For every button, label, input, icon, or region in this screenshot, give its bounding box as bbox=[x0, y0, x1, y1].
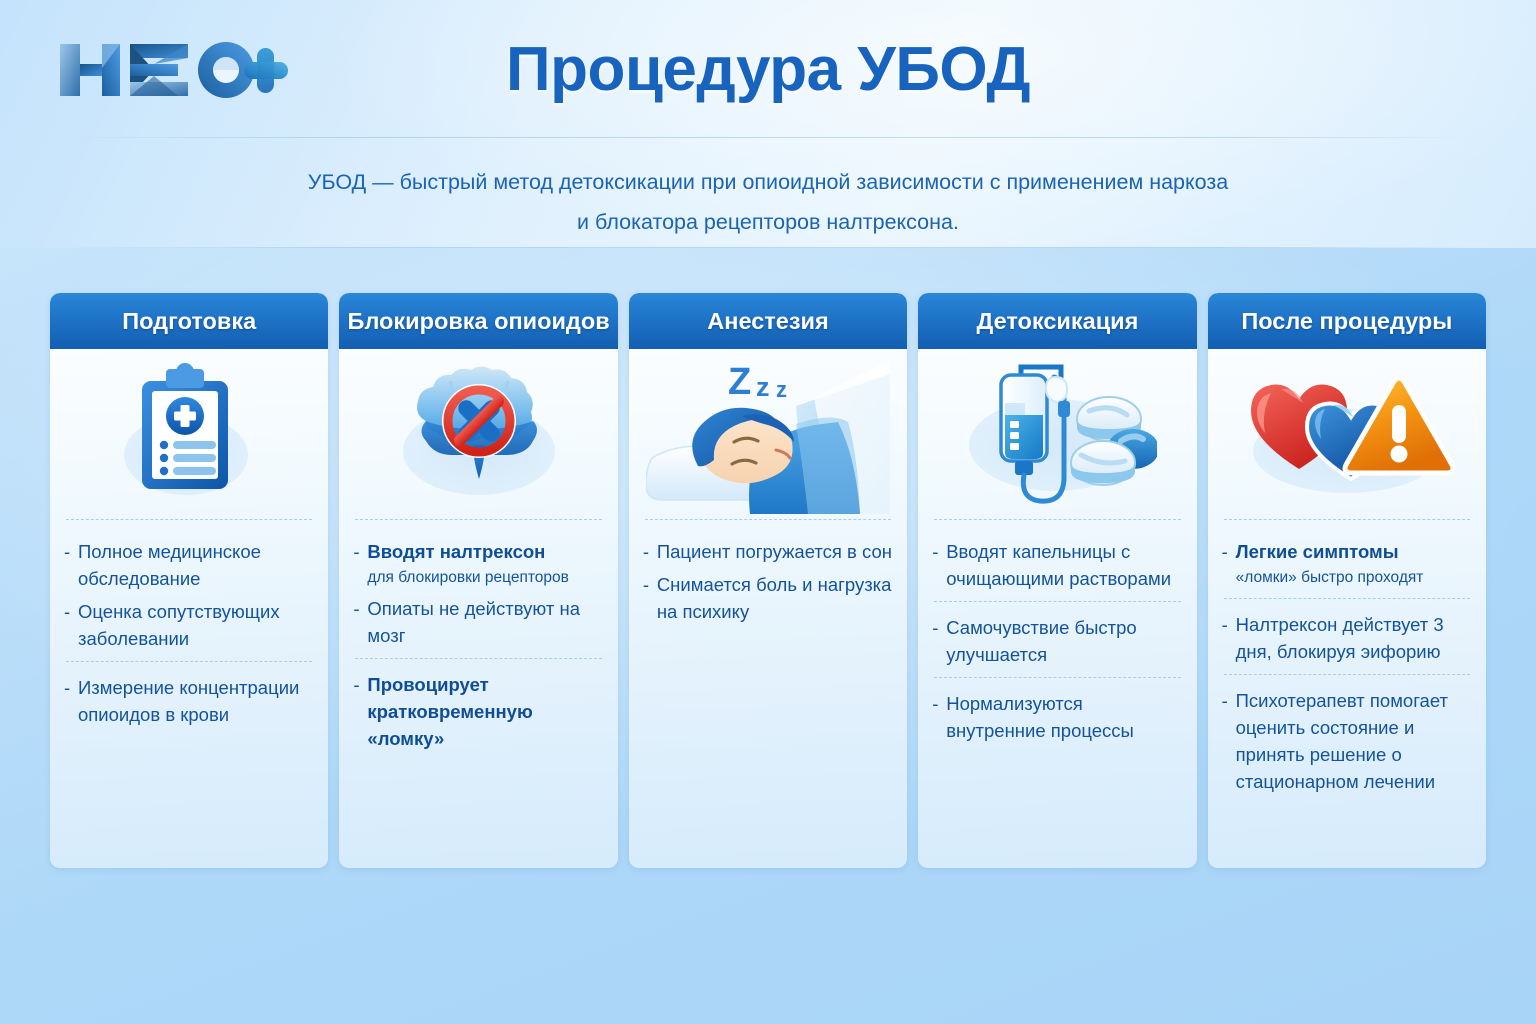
bullet-dash: - bbox=[353, 671, 367, 752]
step-icon-anesthesia: Z z z bbox=[629, 349, 907, 519]
list-separator bbox=[355, 658, 601, 659]
step-header-opioid-blocking: Блокировка опиоидов bbox=[339, 293, 617, 349]
step-title-anesthesia: Анестезия bbox=[707, 308, 828, 335]
list-item: - Психотерапевт помогает оценить состоян… bbox=[1222, 687, 1472, 795]
step-title-opioid-blocking: Блокировка опиоидов bbox=[348, 308, 610, 335]
svg-text:z: z bbox=[776, 377, 787, 402]
list-separator bbox=[1224, 674, 1470, 675]
step-card-detoxification[interactable]: Детоксикация bbox=[918, 293, 1196, 868]
list-item: - Опиаты не действуют на мозг bbox=[353, 595, 603, 649]
step-icon-after-procedure bbox=[1208, 349, 1486, 519]
brain-blocked-icon bbox=[390, 359, 568, 509]
list-item: - Провоцирует кратковременную «ломку» bbox=[353, 671, 603, 752]
step-title-detoxification: Детоксикация bbox=[977, 308, 1139, 335]
bullet-text: Снимается боль и нагрузка на психику bbox=[657, 571, 893, 625]
list-item: - Вводят капельницы с очищающими раствор… bbox=[932, 538, 1182, 592]
step-body-detoxification: - Вводят капельницы с очищающими раствор… bbox=[918, 520, 1196, 868]
bullet-text: Психотерапевт помогает оценить состояние… bbox=[1236, 687, 1472, 795]
procedure-steps-grid: Подготовка bbox=[50, 293, 1486, 868]
bullet-text: Вводят налтрексон bbox=[367, 541, 545, 562]
bullet-text: Измерение концентрации опиоидов в крови bbox=[78, 674, 314, 728]
list-item: - Нормализуются внутренние процессы bbox=[932, 690, 1182, 744]
step-header-after-procedure: После процедуры bbox=[1208, 293, 1486, 349]
list-separator bbox=[934, 677, 1180, 678]
step-card-after-procedure[interactable]: После процедуры bbox=[1208, 293, 1486, 868]
list-item: - Оценка сопутствующих заболевании bbox=[64, 598, 314, 652]
bullet-dash: - bbox=[64, 598, 78, 652]
bullet-text-wrap: Вводят налтрексон для блокировки рецепто… bbox=[367, 538, 603, 589]
bullet-dash: - bbox=[353, 538, 367, 589]
bullet-subtext: для блокировки рецепторов bbox=[367, 566, 603, 589]
list-item: - Вводят налтрексон для блокировки рецеп… bbox=[353, 538, 603, 589]
list-item: - Налтрексон действует 3 дня, блокируя э… bbox=[1222, 611, 1472, 665]
step-icon-detoxification bbox=[918, 349, 1196, 519]
step-body-opioid-blocking: - Вводят налтрексон для блокировки рецеп… bbox=[339, 520, 617, 868]
step-body-anesthesia: - Пациент погружается в сон - Снимается … bbox=[629, 520, 907, 868]
sleeping-patient-icon: Z z z bbox=[646, 354, 890, 514]
list-item: - Снимается боль и нагрузка на психику bbox=[643, 571, 893, 625]
page-subtitle-line2: и блокатора рецепторов налтрексона. bbox=[0, 202, 1536, 242]
list-item: - Полное медицинское обследование bbox=[64, 538, 314, 592]
page-title: Процедура УБОД bbox=[0, 34, 1536, 105]
step-card-opioid-blocking[interactable]: Блокировка опиоидов bbox=[339, 293, 617, 868]
step-header-preparation: Подготовка bbox=[50, 293, 328, 349]
page-subtitle-line1: УБОД — быстрый метод детоксикации при оп… bbox=[308, 170, 1228, 194]
bullet-dash: - bbox=[64, 674, 78, 728]
bullet-text-wrap: Легкие симптомы «ломки» быстро проходят bbox=[1236, 538, 1472, 589]
list-separator bbox=[1224, 598, 1470, 599]
list-item: - Легкие симптомы «ломки» быстро проходя… bbox=[1222, 538, 1472, 589]
bullet-text: Налтрексон действует 3 дня, блокируя эиф… bbox=[1236, 611, 1472, 665]
bullet-text: Легкие симптомы bbox=[1236, 541, 1399, 562]
page-subtitle: УБОД — быстрый метод детоксикации при оп… bbox=[0, 162, 1536, 242]
bullet-text: Провоцирует кратковременную «ломку» bbox=[367, 671, 603, 752]
iv-drip-pills-icon bbox=[957, 359, 1157, 509]
bullet-dash: - bbox=[932, 690, 946, 744]
bullet-text: Нормализуются внутренние процессы bbox=[946, 690, 1182, 744]
step-header-detoxification: Детоксикация bbox=[918, 293, 1196, 349]
step-body-preparation: - Полное медицинское обследование - Оцен… bbox=[50, 520, 328, 868]
zzz-label: Z bbox=[728, 361, 751, 403]
bullet-dash: - bbox=[64, 538, 78, 592]
bullet-dash: - bbox=[353, 595, 367, 649]
clipboard-medical-icon bbox=[114, 359, 264, 509]
step-icon-opioid-blocking bbox=[339, 349, 617, 519]
page-header: Процедура УБОД УБОД — быстрый метод дето… bbox=[0, 0, 1536, 248]
step-card-anesthesia[interactable]: Анестезия bbox=[629, 293, 907, 868]
bullet-dash: - bbox=[643, 571, 657, 625]
bullet-subtext: «ломки» быстро проходят bbox=[1236, 566, 1472, 589]
step-header-anesthesia: Анестезия bbox=[629, 293, 907, 349]
list-item: - Измерение концентрации опиоидов в кров… bbox=[64, 674, 314, 728]
bullet-dash: - bbox=[932, 614, 946, 668]
list-item: - Пациент погружается в сон bbox=[643, 538, 893, 565]
bullet-dash: - bbox=[1222, 687, 1236, 795]
bullet-dash: - bbox=[932, 538, 946, 592]
bullet-text: Оценка сопутствующих заболевании bbox=[78, 598, 314, 652]
list-item: - Самочувствие быстро улучшается bbox=[932, 614, 1182, 668]
bullet-text: Полное медицинское обследование bbox=[78, 538, 314, 592]
bullet-dash: - bbox=[643, 538, 657, 565]
hearts-warning-icon bbox=[1237, 359, 1457, 509]
list-separator bbox=[66, 661, 312, 662]
bullet-text: Вводят капельницы с очищающими растворам… bbox=[946, 538, 1182, 592]
list-separator bbox=[934, 601, 1180, 602]
bullet-text: Опиаты не действуют на мозг bbox=[367, 595, 603, 649]
step-body-after-procedure: - Легкие симптомы «ломки» быстро проходя… bbox=[1208, 520, 1486, 868]
bullet-text: Самочувствие быстро улучшается bbox=[946, 614, 1182, 668]
bullet-dash: - bbox=[1222, 611, 1236, 665]
step-icon-preparation bbox=[50, 349, 328, 519]
bullet-dash: - bbox=[1222, 538, 1236, 589]
bullet-text: Пациент погружается в сон bbox=[657, 538, 893, 565]
svg-text:z: z bbox=[756, 372, 770, 402]
step-title-after-procedure: После процедуры bbox=[1241, 308, 1452, 335]
step-card-preparation[interactable]: Подготовка bbox=[50, 293, 328, 868]
step-title-preparation: Подготовка bbox=[122, 308, 256, 335]
